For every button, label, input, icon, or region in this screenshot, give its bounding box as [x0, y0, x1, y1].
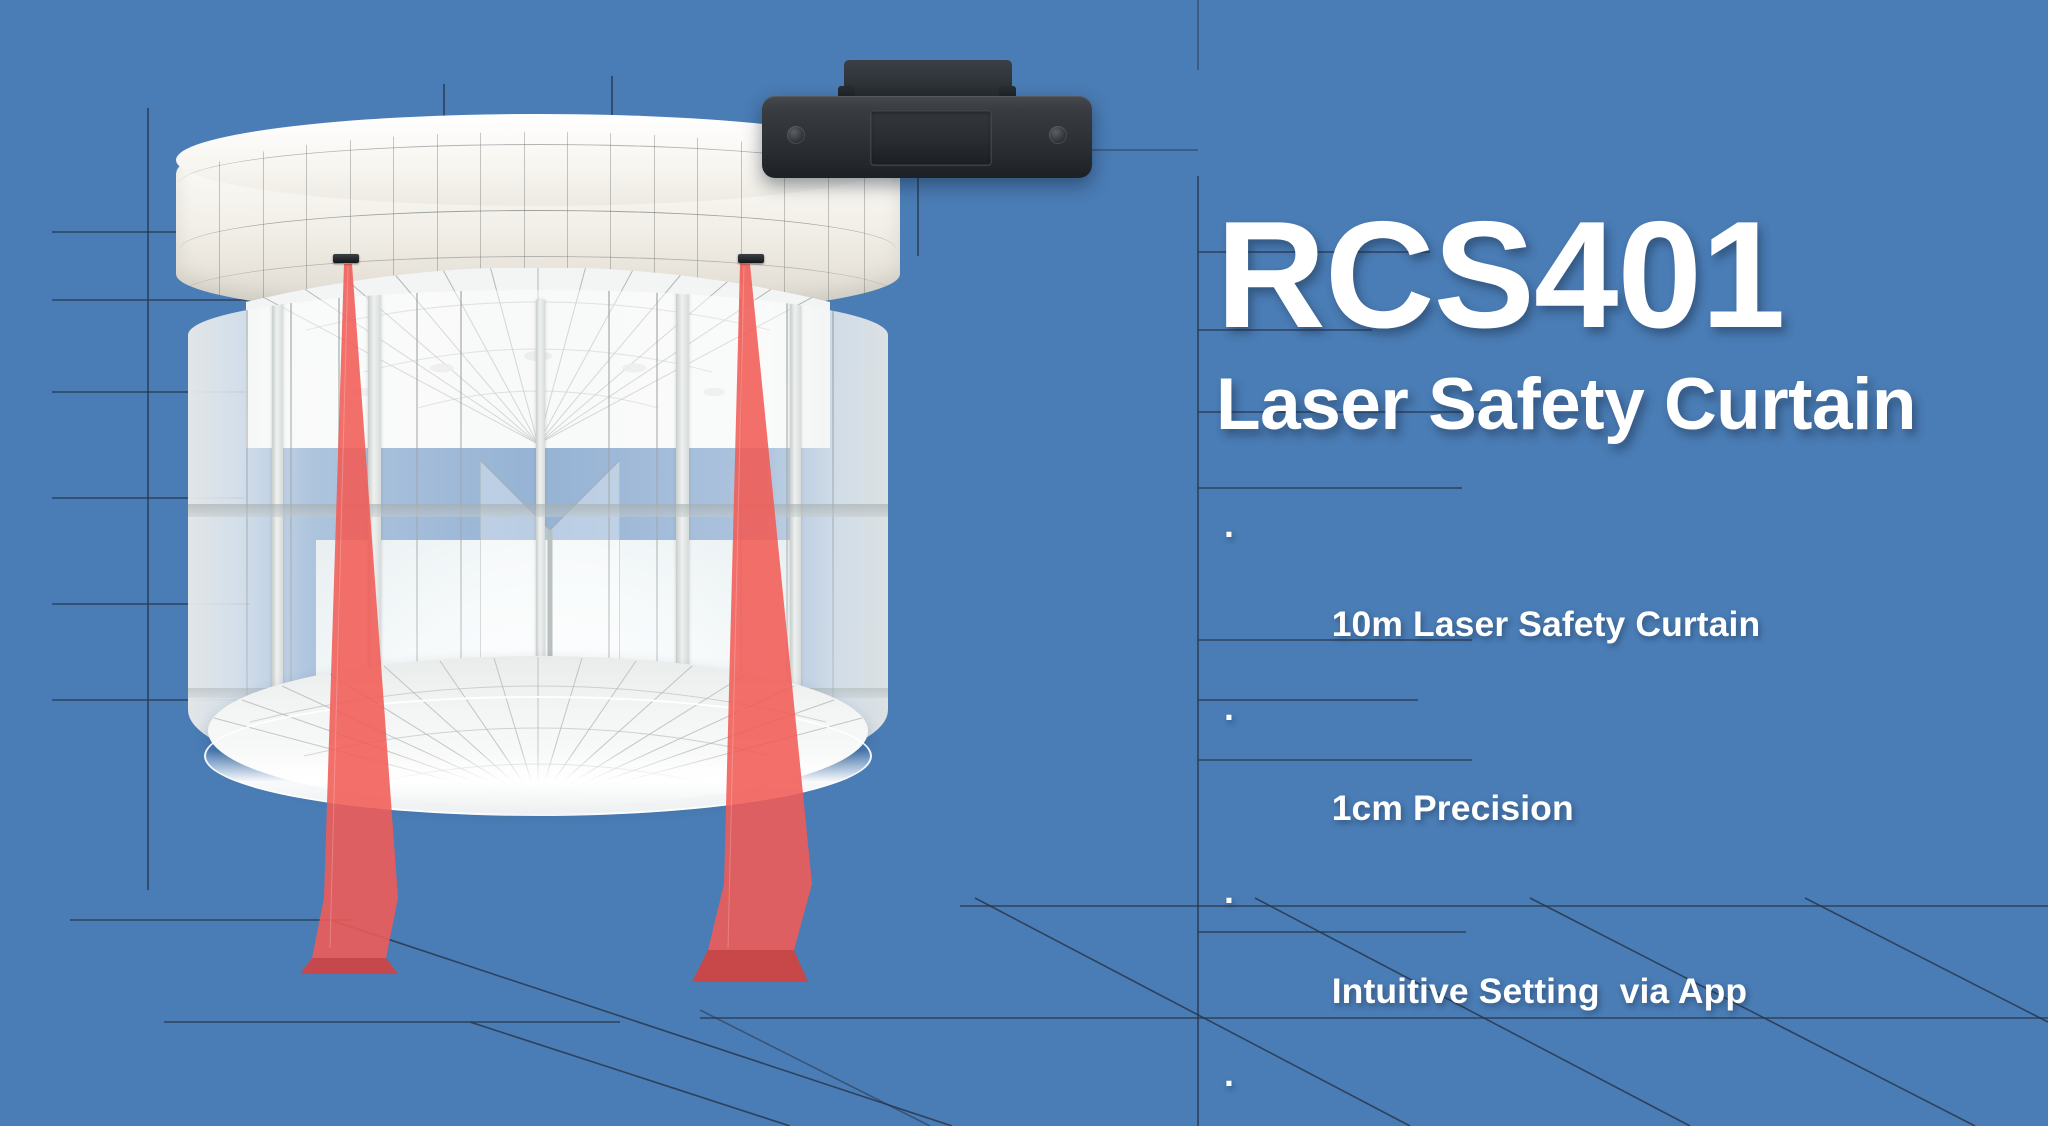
product-name: RCS401: [1216, 206, 2048, 346]
feature-label: 1cm Precision: [1332, 788, 1574, 828]
feature-item: · Fast Response Speed: [1252, 1060, 2048, 1126]
rcs401-sensor-device: [762, 60, 1092, 178]
product-tagline: Laser Safety Curtain: [1216, 368, 2048, 441]
product-copy: RCS401 Laser Safety Curtain · 10m Laser …: [1216, 206, 2048, 1126]
bullet-icon: ·: [1224, 695, 1236, 741]
laser-curtain-right: [662, 258, 842, 948]
laser-emitter-right: [738, 254, 764, 263]
revolving-door-illustration: [168, 118, 908, 808]
sensor-screw-hole-left: [787, 126, 805, 144]
laser-emitter-left: [333, 254, 359, 263]
bullet-icon: ·: [1224, 512, 1236, 558]
feature-label: Intuitive Setting via App: [1332, 971, 1747, 1011]
bullet-icon: ·: [1224, 1061, 1236, 1107]
feature-item: · 1cm Precision: [1252, 694, 2048, 877]
laser-curtain-left: [294, 258, 434, 948]
bullet-icon: ·: [1224, 878, 1236, 924]
sensor-lens-window: [870, 110, 992, 166]
sensor-screw-hole-right: [1049, 126, 1067, 144]
feature-item: · Intuitive Setting via App: [1252, 877, 2048, 1060]
product-hero-banner: RCS401 Laser Safety Curtain · 10m Laser …: [0, 0, 2048, 1126]
feature-item: · 10m Laser Safety Curtain: [1252, 511, 2048, 694]
feature-label: 10m Laser Safety Curtain: [1332, 604, 1761, 644]
feature-list: · 10m Laser Safety Curtain · 1cm Precisi…: [1216, 511, 2048, 1126]
